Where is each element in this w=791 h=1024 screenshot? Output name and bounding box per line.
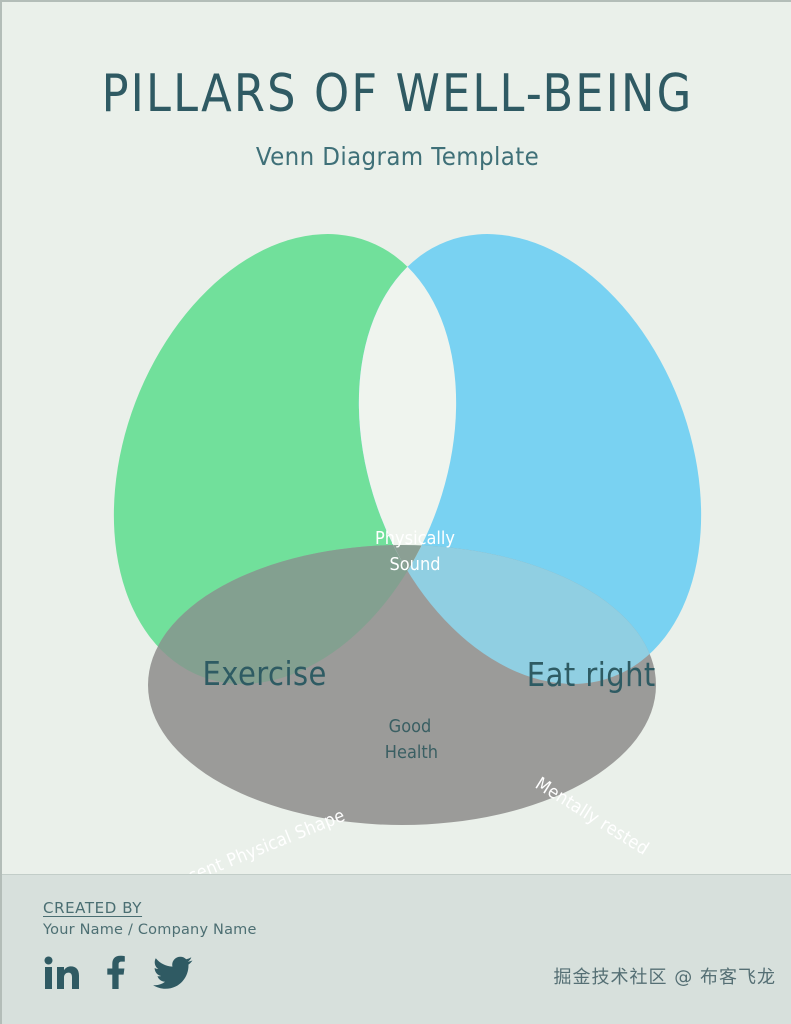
- header: PILLARS OF WELL-BEING Venn Diagram Templ…: [2, 2, 791, 171]
- social-links: [43, 955, 193, 991]
- created-by-label: CREATED BY: [43, 899, 142, 917]
- infographic-page: PILLARS OF WELL-BEING Venn Diagram Templ…: [0, 0, 791, 1024]
- facebook-icon[interactable]: [104, 955, 128, 991]
- page-title: PILLARS OF WELL-BEING: [57, 68, 737, 120]
- watermark: 掘金技术社区 @ 布客飞龙: [554, 963, 776, 989]
- page-subtitle: Venn Diagram Template: [34, 120, 762, 171]
- venn-diagram: Exercise Eat right Relax Physically Soun…: [2, 216, 791, 826]
- creator-name: Your Name / Company Name: [43, 922, 257, 938]
- twitter-icon[interactable]: [153, 956, 193, 990]
- footer: CREATED BY Your Name / Company Name: [2, 874, 791, 1024]
- venn-svg: [2, 216, 791, 826]
- linkedin-icon[interactable]: [43, 955, 79, 991]
